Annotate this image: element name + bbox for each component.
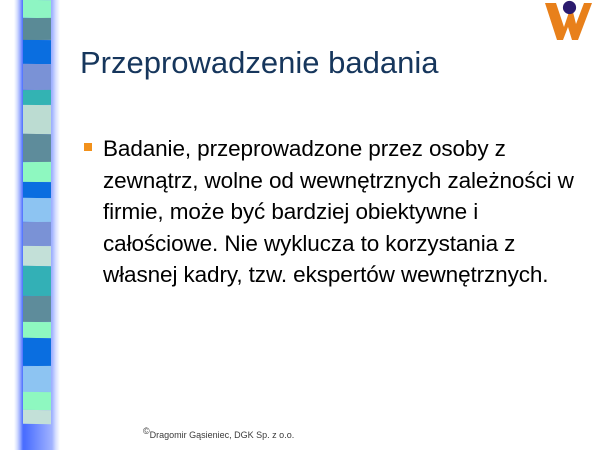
- stripe-block: [23, 392, 51, 410]
- stripe-block: [23, 246, 51, 266]
- list-item: Badanie, przeprowadzone przez osoby z ze…: [84, 133, 584, 291]
- stripe-block: [23, 198, 51, 222]
- slide-canvas: Przeprowadzenie badania Badanie, przepro…: [0, 0, 600, 450]
- stripe-block: [23, 0, 51, 18]
- stripe-block: [23, 162, 51, 182]
- list-item-text: Badanie, przeprowadzone przez osoby z ze…: [103, 136, 574, 287]
- body-content-list: Badanie, przeprowadzone przez osoby z ze…: [84, 133, 584, 291]
- stripe-block: [23, 134, 51, 162]
- stripe-block: [23, 296, 51, 322]
- company-logo: [542, 0, 594, 42]
- stripe-block: [23, 182, 51, 198]
- stripe-block: [23, 266, 51, 296]
- footer-copyright: ©Dragomir Gąsieniec, DGK Sp. z o.o.: [143, 427, 294, 441]
- footer-text: Dragomir Gąsieniec, DGK Sp. z o.o.: [150, 430, 295, 440]
- stripe-block: [23, 366, 51, 392]
- stripe-block: [23, 338, 51, 366]
- copyright-icon: ©: [143, 426, 150, 436]
- stripe-block: [23, 322, 51, 338]
- stripe-block: [23, 90, 51, 105]
- stripe-block: [23, 18, 51, 40]
- stripe-block: [23, 64, 51, 90]
- logo-dot-icon: [563, 1, 576, 14]
- page-title: Przeprowadzenie badania: [80, 44, 550, 82]
- stripe-block: [23, 410, 51, 424]
- stripe-block: [23, 105, 51, 134]
- stripe-block: [23, 40, 51, 64]
- stripe-block: [23, 222, 51, 246]
- decorative-stripe-blocks: [23, 0, 51, 450]
- square-bullet-icon: [84, 143, 92, 151]
